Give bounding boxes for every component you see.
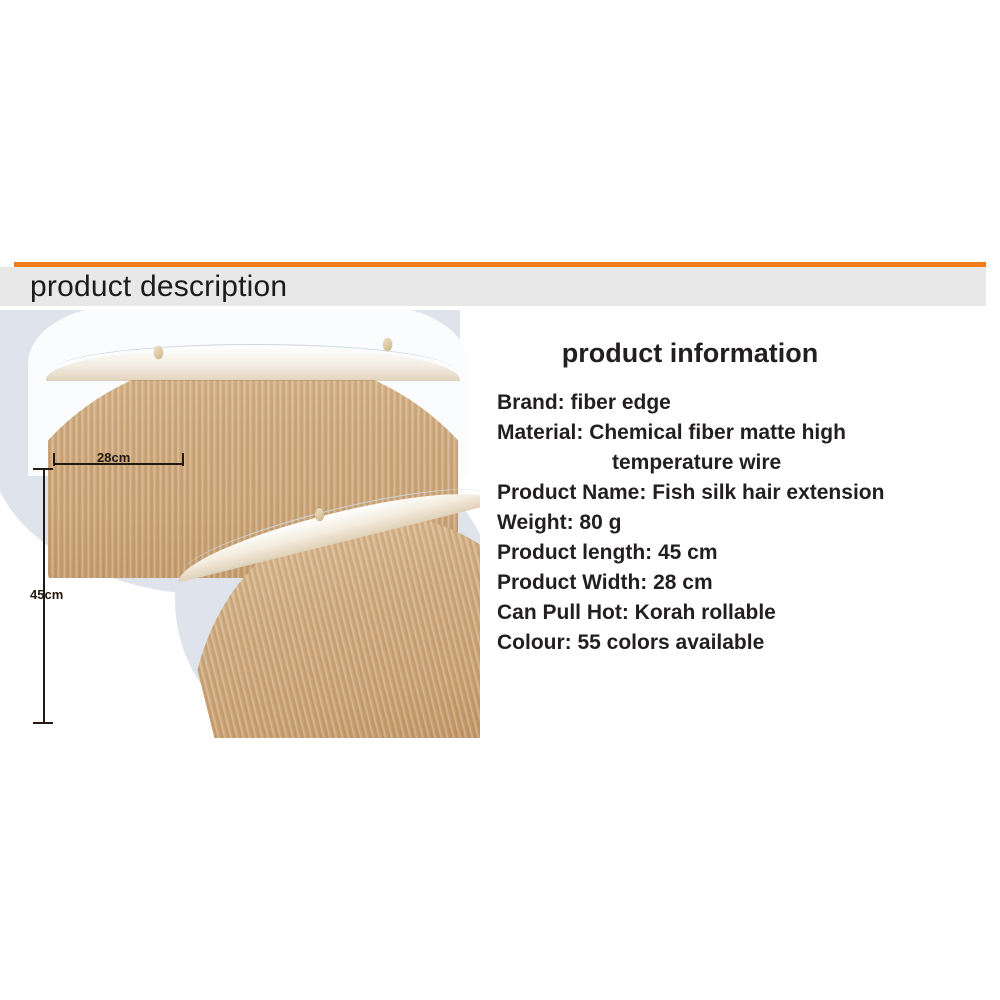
- product-spec-line: temperature wire: [497, 448, 990, 478]
- width-dimension-label: 28cm: [93, 451, 134, 465]
- height-dimension-callout: 45cm: [32, 468, 46, 724]
- dimension-cap-top: [33, 468, 53, 470]
- dimension-cap-left: [53, 453, 55, 466]
- height-dimension-label: 45cm: [30, 588, 63, 602]
- wire-bead: [315, 508, 324, 521]
- product-spec-line: Product length: 45 cm: [497, 538, 990, 568]
- section-title: product description: [30, 268, 287, 305]
- product-spec-list: Brand: fiber edgeMaterial: Chemical fibe…: [497, 388, 990, 658]
- product-information-title: product information: [490, 336, 890, 370]
- wire-bead-right: [383, 338, 392, 351]
- dimension-cap-bottom: [33, 722, 53, 724]
- product-photo-collage: [0, 310, 480, 738]
- dimension-cap-right: [182, 453, 184, 466]
- product-spec-line: Colour: 55 colors available: [497, 628, 990, 658]
- hair-weft-bottom-photo: [175, 460, 480, 738]
- product-description-page: product description: [0, 0, 1000, 1000]
- product-spec-line: Product Name: Fish silk hair extension: [497, 478, 990, 508]
- product-spec-line: Product Width: 28 cm: [497, 568, 990, 598]
- product-spec-line: Can Pull Hot: Korah rollable: [497, 598, 990, 628]
- width-dimension-callout: 28cm: [53, 452, 184, 466]
- product-information-panel: product information Brand: fiber edgeMat…: [490, 336, 990, 666]
- product-spec-line: Material: Chemical fiber matte high: [497, 418, 990, 448]
- section-header: product description: [0, 262, 986, 306]
- product-spec-line: Brand: fiber edge: [497, 388, 990, 418]
- product-spec-line: Weight: 80 g: [497, 508, 990, 538]
- wire-bead-left: [154, 346, 163, 359]
